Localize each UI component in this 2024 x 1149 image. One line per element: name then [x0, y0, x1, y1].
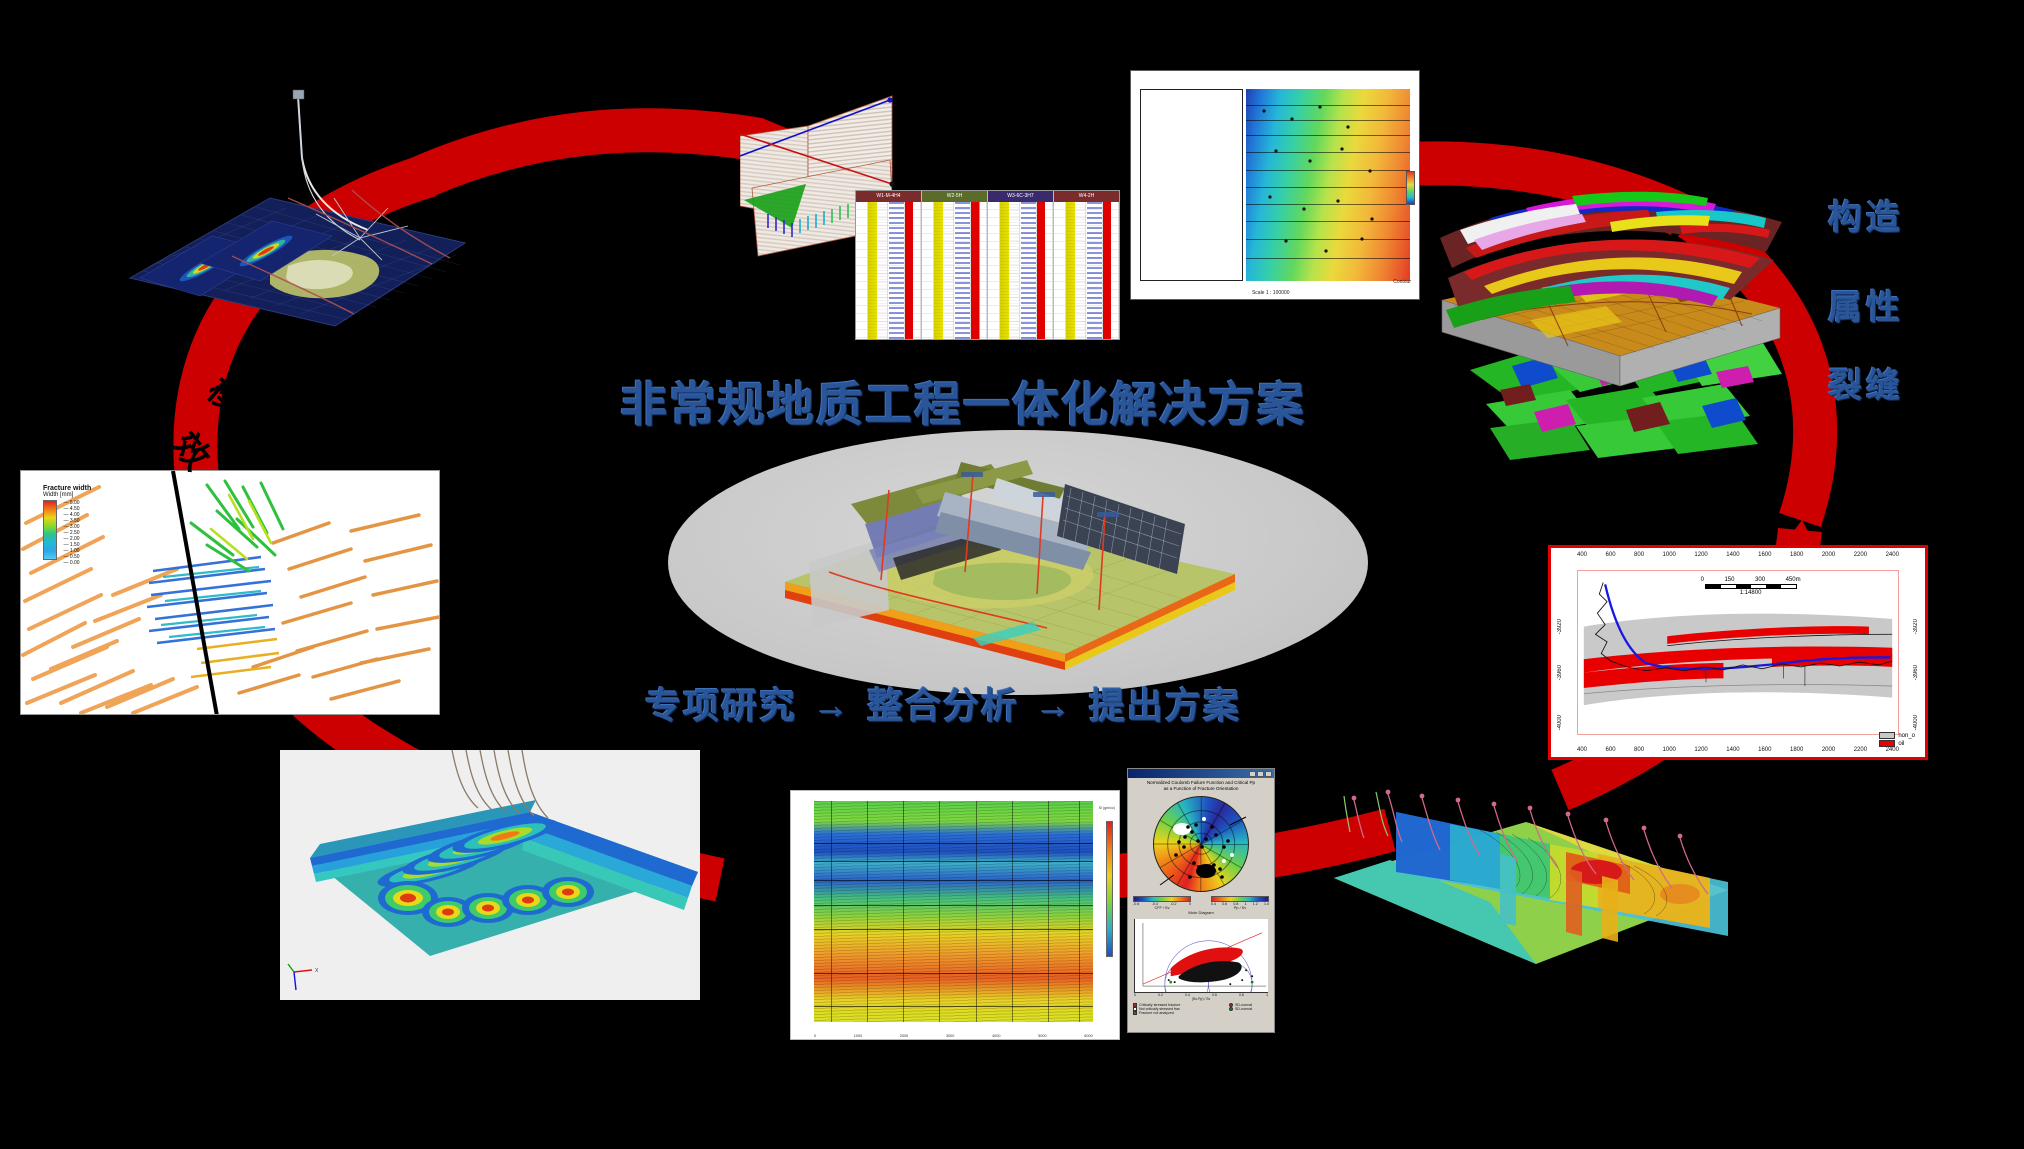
side-label-fracture: 裂缝 [1828, 358, 1904, 407]
flow-step-2: 整合分析 [867, 685, 1019, 726]
side-label-structure: 构造 [1828, 190, 1904, 239]
x-tick: 4000 [992, 1034, 1000, 1038]
panel-fracture-simulation: X [280, 750, 700, 1000]
x-tick: 6000 [1084, 1034, 1092, 1038]
legend-item: SD-normal [1229, 1007, 1269, 1011]
cross-section-x-tick: 1200 [1694, 552, 1707, 558]
process-flow: 专项研究→整合分析→提出方案 [645, 677, 1241, 729]
flow-arrow-1-icon: → [797, 685, 867, 726]
pp-tick: 0.4 [1211, 902, 1216, 906]
cross-section-depth-label: -4000 [1557, 715, 1563, 730]
cff-tick: 0 [1189, 902, 1191, 906]
slide-canvas: W1-M-4H4 W2-5H [0, 0, 2024, 1149]
panel-dfn: Fracture width Width [mm] — 5.00— 4.50— … [20, 470, 440, 715]
flow-sim-graphic [1330, 760, 1730, 1000]
panel-well-logs: W1-M-4H4 W2-5H [855, 190, 1120, 340]
center-integrated-model [765, 432, 1285, 672]
cross-section-x-tick: 2200 [1854, 552, 1867, 558]
cross-section-x-tick: 600 [1606, 552, 1616, 558]
pp-tick: 0.6 [1222, 902, 1227, 906]
panel-contour-map: Scale 1 : 100000 Contour [1130, 70, 1420, 300]
cross-section-x-tick: 1200 [1694, 747, 1707, 753]
x-tick: 1000 [854, 1034, 862, 1038]
flow-arrow-2-icon: → [1019, 685, 1089, 726]
cross-section-legend: non_o oil [1879, 731, 1915, 747]
cross-section-depth-label: -3960 [1913, 665, 1919, 680]
cross-section-x-tick: 1400 [1726, 552, 1739, 558]
scale-tick: 150 [1724, 577, 1734, 583]
contour-wells [1246, 89, 1410, 281]
cross-section-x-tick: 1000 [1663, 552, 1676, 558]
legend-label: oil [1898, 741, 1904, 747]
center-model-graphic [765, 432, 1285, 672]
frac-sim-graphic: X [280, 750, 700, 1000]
legend-item: non_o [1879, 732, 1915, 739]
mohr-graphic [1135, 919, 1268, 992]
x-tick: 0 [814, 1034, 816, 1038]
stereonet-caption-line2: as a Function of Fracture Orientation [1132, 786, 1270, 792]
panel-seismic-inversion: SI (gm/cc) 0 1000 2000 3000 4000 5000 60… [790, 790, 1120, 1040]
cross-section-x-tick: 2400 [1886, 747, 1899, 753]
dfn-legend-units: Width [mm] [43, 492, 91, 498]
seismic-inversion-x-axis: 0 1000 2000 3000 4000 5000 6000 [814, 1034, 1093, 1038]
legend-label: non_o [1898, 733, 1915, 739]
cross-section-x-tick: 1800 [1790, 552, 1803, 558]
cross-section-depth-label: -3920 [1913, 619, 1919, 634]
contour-map-surface [1246, 89, 1410, 281]
stereonet-plot [1153, 796, 1249, 892]
dfn-colorbar-ticks: — 5.00— 4.50— 4.00— 3.50— 3.00— 2.50— 2.… [63, 500, 79, 566]
scale-ratio: 1:14800 [1701, 590, 1801, 596]
scale-tick: 450m [1786, 577, 1801, 583]
cross-section-depth-label: -3920 [1557, 619, 1563, 634]
cross-section-bottom-ticks: 4006008001000120014001600180020002200240… [1577, 747, 1899, 753]
cross-section-x-tick: 400 [1577, 552, 1587, 558]
seismic-inversion-colorbar [1106, 821, 1113, 957]
cross-section-x-tick: 1400 [1726, 747, 1739, 753]
cross-section-x-tick: 400 [1577, 747, 1587, 753]
seismic-inversion-section [814, 801, 1093, 1022]
x-tick: 2000 [900, 1034, 908, 1038]
scale-bar-graphic [1705, 584, 1797, 589]
cross-section-x-tick: 800 [1634, 552, 1644, 558]
stereonet-colorbars: -0.6 -0.4 -0.2 0 CFF / Sv 0.4 0.6 0.8 1 … [1128, 896, 1274, 910]
dfn-legend: Fracture width Width [mm] — 5.00— 4.50— … [43, 485, 91, 566]
seismic-colorbar-title: SI (gm/cc) [1099, 806, 1115, 810]
close-icon[interactable] [1265, 771, 1272, 777]
mohr-x-tick: 0.6 [1212, 993, 1217, 997]
cross-section-x-tick: 1600 [1758, 747, 1771, 753]
panel-flow-simulation [1330, 760, 1730, 1000]
mohr-x-tick: 0 [1134, 993, 1136, 997]
geomodel-graphic [1430, 160, 1790, 470]
pp-tick: 1.2 [1253, 902, 1258, 906]
panel-reservoir-3d [120, 88, 470, 328]
cross-section-depth-label: -3960 [1557, 665, 1563, 680]
well-log-track: W2-5H [922, 191, 988, 339]
reservoir-3d-graphic [120, 88, 470, 328]
legend-item: Fracture not analyzed [1133, 1011, 1225, 1015]
cff-caption: CFF / Sv [1133, 906, 1191, 910]
mohr-x-tick: 0.4 [1185, 993, 1190, 997]
well-log-track: W4-2H [1054, 191, 1119, 339]
panel-stereonet-window: Normalized Coulomb Failure Function and … [1127, 768, 1275, 1033]
well-log-header: W3-6C-3H7 [988, 191, 1053, 202]
scale-tick: 300 [1755, 577, 1765, 583]
legend-label: Fracture not analyzed [1139, 1011, 1174, 1015]
stereonet-points [1154, 797, 1250, 893]
well-log-track: W3-6C-3H7 [988, 191, 1054, 339]
well-log-track: W1-M-4H4 [856, 191, 922, 339]
cross-section-x-tick: 2200 [1854, 747, 1867, 753]
pp-caption: Pp / Sv [1211, 906, 1269, 910]
side-label-property: 属性 [1828, 280, 1904, 329]
pp-tick: 1.4 [1264, 902, 1269, 906]
mohr-title: Mohr Diagram [1128, 910, 1274, 915]
legend-swatch [1133, 1011, 1137, 1015]
flow-step-1: 专项研究 [645, 685, 797, 726]
mohr-diagram [1134, 919, 1268, 993]
cross-section-x-tick: 1800 [1790, 747, 1803, 753]
cross-section-scalebar: 0 150 300 450m 1:14800 [1701, 577, 1801, 596]
mohr-x-tick: 0.8 [1239, 993, 1244, 997]
legend-swatch [1229, 1007, 1233, 1011]
x-tick: 5000 [1038, 1034, 1046, 1038]
well-log-header: W1-M-4H4 [856, 191, 921, 202]
contour-map-colorbar [1406, 171, 1415, 205]
colorbar-pp: 0.4 0.6 0.8 1 1.2 1.4 Pp / Sv [1211, 896, 1269, 910]
cff-tick: -0.6 [1133, 902, 1139, 906]
minimize-icon[interactable] [1249, 771, 1256, 777]
cross-section-x-tick: 1600 [1758, 552, 1771, 558]
scale-tick: 0 [1701, 577, 1704, 583]
axis-x-label: X [315, 968, 319, 974]
dfn-legend-title: Fracture width [43, 485, 91, 492]
page-title: 非常规地质工程一体化解决方案 [620, 366, 1306, 435]
legend-item: oil [1879, 740, 1915, 747]
legend-swatch [1879, 732, 1895, 739]
maximize-icon[interactable] [1257, 771, 1264, 777]
x-tick: 3000 [946, 1034, 954, 1038]
well-log-header: W2-5H [922, 191, 987, 202]
stereonet-legend: Critically stressed fracture Not critica… [1128, 1001, 1274, 1017]
panel-geological-model [1430, 160, 1790, 470]
contour-map-caption: Contour [1393, 279, 1411, 285]
legend-label: SD-normal [1235, 1007, 1252, 1011]
stereonet-titlebar[interactable] [1128, 769, 1274, 778]
cross-section-x-tick: 2000 [1822, 552, 1835, 558]
contour-map-scale: Scale 1 : 100000 [1252, 290, 1290, 296]
mohr-x-tick: 0.2 [1158, 993, 1163, 997]
well-log-header: W4-2H [1054, 191, 1119, 202]
panel-cross-section: 4006008001000120014001600180020002200240… [1548, 545, 1928, 760]
cross-section-depth-label: -4000 [1913, 715, 1919, 730]
legend-swatch [1879, 740, 1895, 747]
cross-section-x-tick: 2400 [1886, 552, 1899, 558]
cff-tick: -0.2 [1170, 902, 1176, 906]
colorbar-cff: -0.6 -0.4 -0.2 0 CFF / Sv [1133, 896, 1191, 910]
flow-step-3: 提出方案 [1089, 685, 1241, 726]
ring-arc-top-left [420, 130, 760, 178]
cross-section-top-ticks: 4006008001000120014001600180020002200240… [1577, 552, 1899, 558]
cross-section-x-tick: 800 [1634, 747, 1644, 753]
dfn-tick: — 0.00 [63, 560, 79, 566]
cross-section-x-tick: 2000 [1822, 747, 1835, 753]
dfn-colorbar [43, 500, 57, 560]
cross-section-x-tick: 600 [1606, 747, 1616, 753]
cross-section-x-tick: 1000 [1663, 747, 1676, 753]
contour-map-index-area [1140, 89, 1244, 281]
stereonet-caption: Normalized Coulomb Failure Function and … [1128, 778, 1274, 793]
mohr-x-tick: 1 [1266, 993, 1268, 997]
